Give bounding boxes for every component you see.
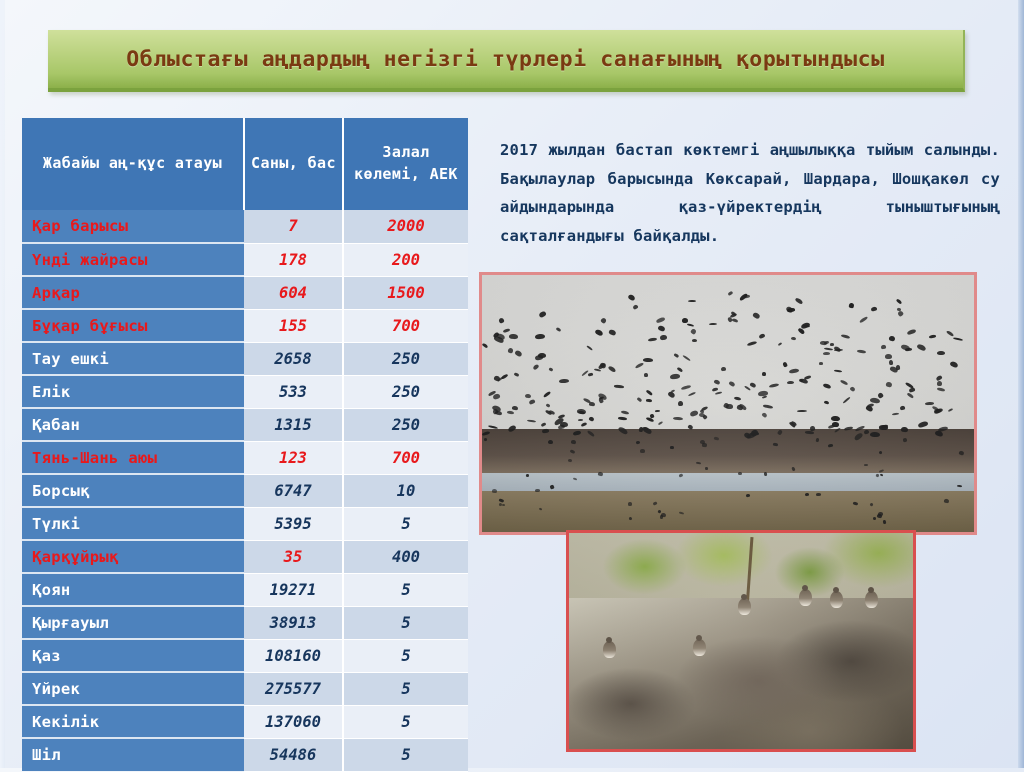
bird-silhouette (547, 439, 552, 443)
cell-species-name: Тау ешкі (22, 342, 244, 375)
bird-silhouette (670, 373, 680, 379)
cell-count: 19271 (244, 573, 343, 606)
bird-silhouette (681, 318, 687, 323)
cell-count: 137060 (244, 705, 343, 738)
cell-damage: 250 (343, 408, 468, 441)
cell-species-name: Кекілік (22, 705, 244, 738)
table-row: Кекілік1370605 (22, 705, 468, 738)
table-row: Шіл544865 (22, 738, 468, 771)
table-row: Қабан1315250 (22, 408, 468, 441)
bird-silhouette (535, 489, 540, 492)
bird-silhouette (660, 515, 663, 519)
cell-count: 54486 (244, 738, 343, 771)
bird-silhouette (688, 300, 696, 302)
bird-silhouette (869, 431, 879, 437)
cell-count: 7 (244, 210, 343, 243)
cell-damage: 5 (343, 639, 468, 672)
table-row: Борсық674710 (22, 474, 468, 507)
bird-silhouette (738, 472, 743, 476)
partridge-bird (603, 641, 616, 658)
table-body: Қар барысы72000Үнді жайрасы178200Арқар60… (22, 210, 468, 771)
bird-silhouette (758, 390, 768, 396)
bird-silhouette (900, 405, 906, 410)
bird-silhouette (797, 410, 807, 413)
column-header-species: Жабайы аң-құс атауы (22, 118, 244, 210)
cell-count: 6747 (244, 474, 343, 507)
partridge-bird (865, 591, 878, 608)
bird-silhouette (832, 422, 840, 427)
cell-damage: 250 (343, 375, 468, 408)
slide-title-banner: Облыстағы аңдардың негізгі түрлері санағ… (48, 30, 965, 92)
table-header-row: Жабайы аң-құс атауы Саны, бас Залал көле… (22, 118, 468, 210)
cell-count: 108160 (244, 639, 343, 672)
bird-silhouette (885, 354, 892, 359)
cell-count: 2658 (244, 342, 343, 375)
page-title: Облыстағы аңдардың негізгі түрлері санағ… (126, 47, 884, 72)
bird-silhouette (571, 439, 577, 444)
bird-silhouette (646, 398, 652, 401)
table-row: Арқар6041500 (22, 276, 468, 309)
photo-water-region (482, 473, 974, 491)
bird-silhouette (761, 372, 765, 376)
cell-species-name: Қырғауыл (22, 606, 244, 639)
table-row: Бұқар бұғысы155700 (22, 309, 468, 342)
cell-damage: 5 (343, 738, 468, 771)
slide-right-edge (1018, 0, 1024, 768)
bird-silhouette (560, 421, 568, 427)
column-header-count: Саны, бас (244, 118, 343, 210)
bird-silhouette (538, 353, 546, 358)
cell-damage: 10 (343, 474, 468, 507)
bird-silhouette (772, 442, 778, 446)
photo-shore-region (482, 429, 974, 473)
photo-rocks-region (569, 598, 913, 749)
cell-damage: 5 (343, 705, 468, 738)
birds-flock-photo (479, 272, 977, 535)
cell-damage: 200 (343, 243, 468, 276)
cell-count: 155 (244, 309, 343, 342)
intro-paragraph: 2017 жылдан бастап көктемгі аңшылыққа ты… (500, 136, 1000, 250)
bird-silhouette (901, 427, 908, 432)
bird-silhouette (696, 461, 701, 464)
partridge-bird (738, 598, 751, 615)
cell-species-name: Елік (22, 375, 244, 408)
bird-silhouette (876, 513, 882, 518)
table-row: Қаз1081605 (22, 639, 468, 672)
cell-species-name: Бұқар бұғысы (22, 309, 244, 342)
cell-damage: 1500 (343, 276, 468, 309)
partridge-bird (693, 639, 706, 656)
cell-count: 178 (244, 243, 343, 276)
bird-silhouette (823, 352, 830, 355)
bird-silhouette (639, 449, 644, 453)
cell-damage: 5 (343, 507, 468, 540)
bird-silhouette (589, 401, 595, 406)
cell-species-name: Қарқұйрық (22, 540, 244, 573)
bird-silhouette (701, 443, 706, 447)
cell-count: 35 (244, 540, 343, 573)
wildlife-census-table: Жабайы аң-құс атауы Саны, бас Залал көле… (22, 118, 468, 772)
table-row: Тау ешкі2658250 (22, 342, 468, 375)
partridges-on-rocks-photo (566, 530, 916, 752)
cell-damage: 5 (343, 672, 468, 705)
table-row: Қарқұйрық35400 (22, 540, 468, 573)
slide-canvas: Облыстағы аңдардың негізгі түрлері санағ… (0, 0, 1024, 768)
bird-silhouette (831, 416, 840, 422)
cell-damage: 2000 (343, 210, 468, 243)
table-row: Елік533250 (22, 375, 468, 408)
cell-damage: 400 (343, 540, 468, 573)
cell-damage: 700 (343, 441, 468, 474)
table-row: Қырғауыл389135 (22, 606, 468, 639)
bird-silhouette (578, 418, 583, 420)
cell-count: 38913 (244, 606, 343, 639)
cell-species-name: Үйрек (22, 672, 244, 705)
cell-species-name: Қар барысы (22, 210, 244, 243)
bird-silhouette (643, 373, 648, 378)
cell-damage: 250 (343, 342, 468, 375)
cell-count: 275577 (244, 672, 343, 705)
column-header-damage: Залал көлемі, АЕК (343, 118, 468, 210)
table-row: Қоян192715 (22, 573, 468, 606)
cell-species-name: Үнді жайрасы (22, 243, 244, 276)
cell-damage: 5 (343, 573, 468, 606)
cell-species-name: Арқар (22, 276, 244, 309)
photo-bank-region (482, 491, 974, 532)
bird-silhouette (492, 489, 498, 494)
slide-left-edge (0, 0, 5, 768)
bird-silhouette (670, 446, 674, 449)
bird-silhouette (875, 473, 879, 476)
bird-silhouette (937, 351, 945, 355)
bird-silhouette (643, 358, 653, 362)
table-row: Үйрек2755775 (22, 672, 468, 705)
cell-species-name: Борсық (22, 474, 244, 507)
table-row: Қар барысы72000 (22, 210, 468, 243)
table-row: Үнді жайрасы178200 (22, 243, 468, 276)
cell-species-name: Тянь-Шань аюы (22, 441, 244, 474)
cell-species-name: Түлкі (22, 507, 244, 540)
table-header: Жабайы аң-құс атауы Саны, бас Залал көле… (22, 118, 468, 210)
cell-species-name: Қоян (22, 573, 244, 606)
bird-silhouette (726, 404, 733, 409)
cell-damage: 5 (343, 606, 468, 639)
partridge-bird (799, 589, 812, 606)
cell-species-name: Шіл (22, 738, 244, 771)
cell-count: 123 (244, 441, 343, 474)
cell-count: 1315 (244, 408, 343, 441)
cell-damage: 700 (343, 309, 468, 342)
table-row: Түлкі53955 (22, 507, 468, 540)
cell-species-name: Қаз (22, 639, 244, 672)
cell-species-name: Қабан (22, 408, 244, 441)
cell-count: 5395 (244, 507, 343, 540)
cell-count: 533 (244, 375, 343, 408)
table-row: Тянь-Шань аюы123700 (22, 441, 468, 474)
cell-count: 604 (244, 276, 343, 309)
